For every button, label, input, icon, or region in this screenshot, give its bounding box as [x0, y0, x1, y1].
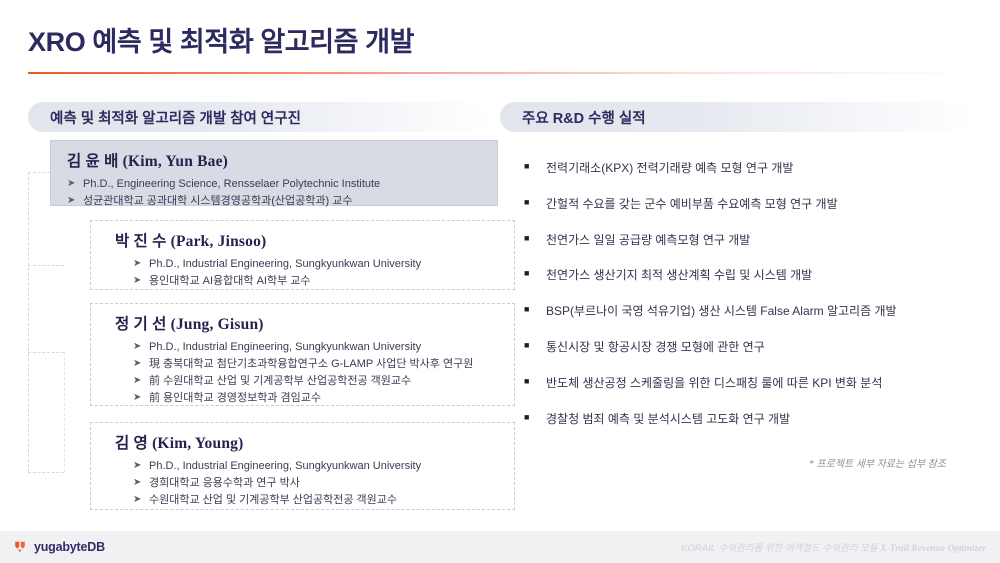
rd-list-item: ■ 간헐적 수요를 갖는 군수 예비부품 수요예측 모형 연구 개발	[524, 196, 974, 213]
researcher-bullet: ➤ 前 수원대학교 산업 및 기계공학부 산업공학전공 객원교수	[115, 373, 504, 390]
researcher-card[interactable]: 김 윤 배 (Kim, Yun Bae) ➤ Ph.D., Engineerin…	[50, 140, 498, 206]
researcher-bullet: ➤ 경희대학교 응용수학과 연구 박사	[115, 475, 504, 492]
footer-note: KORAIL 수익관리를 위한 여객철도 수익관리 모듈 X-Trail Rev…	[681, 540, 986, 554]
arrow-bullet-icon: ➤	[133, 492, 149, 508]
footer-note-emphasis: X-Trail Revenue Optimizer	[880, 544, 986, 554]
square-bullet-icon: ■	[524, 303, 546, 317]
researcher-card[interactable]: 김 영 (Kim, Young) ➤ Ph.D., Industrial Eng…	[90, 422, 515, 510]
rd-list-item: ■ 전력기래소(KPX) 전력기래량 예측 모형 연구 개발	[524, 160, 974, 177]
researcher-bullet: ➤ 前 용인대학교 경영정보학과 겸임교수	[115, 390, 504, 407]
brand-name: yugabyteDB	[34, 540, 105, 554]
square-bullet-icon: ■	[524, 196, 546, 210]
square-bullet-icon: ■	[524, 160, 546, 174]
researcher-bullet: ➤ Ph.D., Industrial Engineering, Sungkyu…	[115, 458, 504, 475]
researcher-bullet: ➤ Ph.D., Industrial Engineering, Sungkyu…	[115, 256, 504, 273]
tree-connector-vertical	[28, 172, 29, 472]
arrow-bullet-icon: ➤	[133, 356, 149, 372]
rd-list-item: ■ 천연가스 일일 공급량 예측모형 연구 개발	[524, 232, 974, 249]
arrow-bullet-icon: ➤	[133, 256, 149, 272]
researcher-bullet: ➤ 용인대학교 AI융합대학 AI학부 교수	[115, 273, 504, 290]
tree-connector-branch-1	[28, 172, 50, 173]
square-bullet-icon: ■	[524, 232, 546, 246]
rd-list-item: ■ 반도체 생산공정 스케줄링을 위한 디스패칭 룰에 따른 KPI 변화 분석	[524, 375, 974, 392]
researcher-tree: 김 윤 배 (Kim, Yun Bae) ➤ Ph.D., Engineerin…	[28, 140, 498, 518]
yugabyte-logo-icon	[14, 540, 28, 554]
researcher-card[interactable]: 정 기 선 (Jung, Gisun) ➤ Ph.D., Industrial …	[90, 303, 515, 406]
arrow-bullet-icon: ➤	[67, 176, 83, 192]
rd-list-item: ■ BSP(부르나이 국영 석유기업) 생산 시스템 False Alarm 알…	[524, 303, 974, 320]
rd-footnote: * 프로젝트 세부 자료는 섭부 참조	[500, 455, 972, 470]
researcher-name: 김 윤 배 (Kim, Yun Bae)	[67, 149, 487, 171]
researcher-name: 김 영 (Kim, Young)	[115, 431, 504, 453]
arrow-bullet-icon: ➤	[133, 458, 149, 474]
tree-connector-vertical-inner	[64, 352, 65, 472]
section-header-researchers-label: 예측 및 최적화 알고리즘 개발 참여 연구진	[28, 107, 301, 128]
researcher-card[interactable]: 박 진 수 (Park, Jinsoo) ➤ Ph.D., Industrial…	[90, 220, 515, 290]
researcher-bullet: ➤ Ph.D., Engineering Science, Rensselaer…	[67, 176, 487, 193]
title-divider	[28, 72, 972, 74]
rd-list-item: ■ 천연가스 생산기지 최적 생산계획 수립 및 시스템 개발	[524, 267, 974, 284]
square-bullet-icon: ■	[524, 375, 546, 389]
footer-bar: yugabyteDB KORAIL 수익관리를 위한 여객철도 수익관리 모듈 …	[0, 531, 1000, 563]
square-bullet-icon: ■	[524, 339, 546, 353]
researcher-name: 정 기 선 (Jung, Gisun)	[115, 312, 504, 334]
researcher-bullet: ➤ Ph.D., Industrial Engineering, Sungkyu…	[115, 339, 504, 356]
footer-note-prefix: KORAIL 수익관리를 위한 여객철도 수익관리 모듈	[681, 543, 880, 554]
page-title: XRO 예측 및 최적화 알고리즘 개발	[28, 20, 414, 59]
arrow-bullet-icon: ➤	[133, 273, 149, 289]
rd-list-item: ■ 경찰청 범죄 예측 및 분석시스템 고도화 연구 개발	[524, 411, 974, 428]
section-header-rd: 주요 R&D 수행 실적	[500, 102, 972, 132]
square-bullet-icon: ■	[524, 267, 546, 281]
tree-connector-branch-4	[28, 472, 64, 473]
rd-list-item: ■ 통신시장 및 항공시장 경쟁 모형에 관한 연구	[524, 339, 974, 356]
researcher-bullet: ➤ 現 충북대학교 첨단기초과학융합연구소 G-LAMP 사업단 박사후 연구원	[115, 356, 504, 373]
arrow-bullet-icon: ➤	[133, 339, 149, 355]
section-header-researchers: 예측 및 최적화 알고리즘 개발 참여 연구진	[28, 102, 490, 132]
tree-connector-branch-3	[28, 352, 64, 353]
rd-achievement-list: ■ 전력기래소(KPX) 전력기래량 예측 모형 연구 개발 ■ 간헐적 수요를…	[524, 160, 974, 446]
researcher-name: 박 진 수 (Park, Jinsoo)	[115, 229, 504, 251]
researcher-bullet: ➤ 수원대학교 산업 및 기계공학부 산업공학전공 객원교수	[115, 492, 504, 509]
researcher-bullet: ➤ 성균관대학교 공과대학 시스템경영공학과(산업공학과) 교수	[67, 193, 487, 210]
arrow-bullet-icon: ➤	[133, 475, 149, 491]
arrow-bullet-icon: ➤	[67, 193, 83, 209]
tree-connector-branch-2	[28, 265, 64, 266]
brand-logo: yugabyteDB	[14, 540, 105, 554]
square-bullet-icon: ■	[524, 411, 546, 425]
section-header-rd-label: 주요 R&D 수행 실적	[500, 107, 646, 128]
arrow-bullet-icon: ➤	[133, 390, 149, 406]
arrow-bullet-icon: ➤	[133, 373, 149, 389]
